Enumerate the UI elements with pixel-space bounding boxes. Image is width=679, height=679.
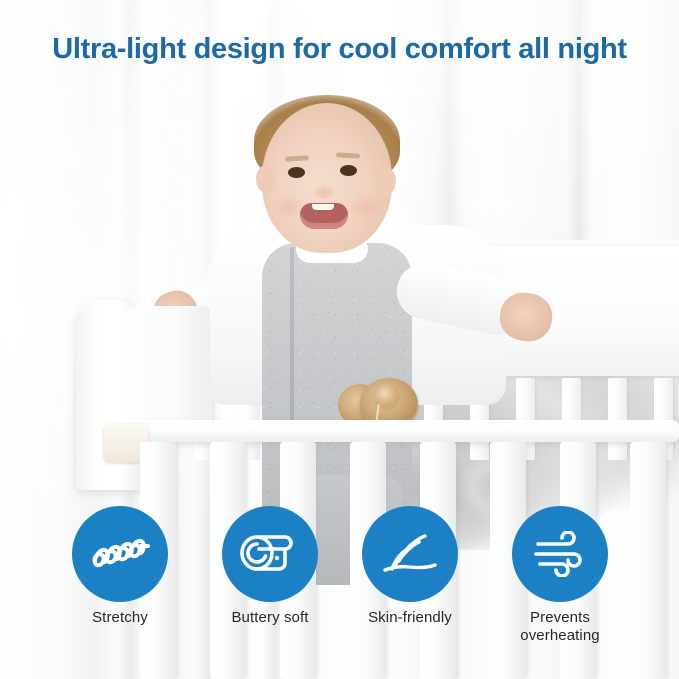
feature-label: Buttery soft xyxy=(195,609,345,627)
sleep-sack-zipper xyxy=(290,247,294,427)
feature-badge-row: Stretchy Buttery soft xyxy=(0,506,679,656)
baby-nose xyxy=(312,183,336,199)
crib-front-rail xyxy=(140,420,679,442)
feature-prevents-overheating[interactable]: Prevents overheating xyxy=(485,506,635,645)
baby-tooth xyxy=(312,204,334,210)
feature-label: Skin-friendly xyxy=(335,609,485,627)
feature-icon-circle xyxy=(362,506,458,602)
feature-icon-circle xyxy=(512,506,608,602)
feature-icon-circle xyxy=(222,506,318,602)
product-feature-image: Ultra-light design for cool comfort all … xyxy=(0,0,679,679)
baby-eye xyxy=(288,167,305,178)
page-title: Ultra-light design for cool comfort all … xyxy=(0,33,679,66)
fabric-roll-icon xyxy=(239,531,301,577)
baby-ear xyxy=(256,165,276,193)
crib-side-panel xyxy=(118,306,210,434)
spring-coil-icon xyxy=(89,533,151,575)
baby-head xyxy=(262,103,392,253)
feature-stretchy[interactable]: Stretchy xyxy=(45,506,195,627)
hand-touch-fabric-icon xyxy=(379,530,441,578)
feature-buttery-soft[interactable]: Buttery soft xyxy=(195,506,345,627)
feature-label: Stretchy xyxy=(45,609,195,627)
feature-label: Prevents xyxy=(485,609,635,627)
baby-cheek xyxy=(348,195,382,219)
feature-skin-friendly[interactable]: Skin-friendly xyxy=(335,506,485,627)
baby-ear xyxy=(376,167,396,195)
feature-icon-circle xyxy=(72,506,168,602)
feature-label-line2: overheating xyxy=(485,627,635,645)
baby-eye xyxy=(340,165,357,176)
wind-breeze-icon xyxy=(530,531,590,577)
